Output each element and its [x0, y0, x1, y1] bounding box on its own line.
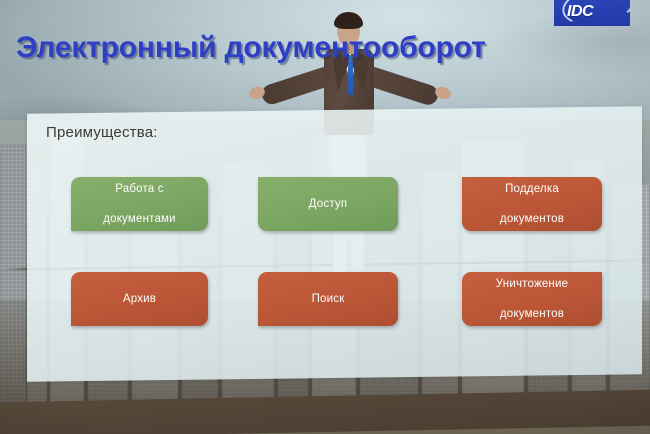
slide-title: Электронный документооборот	[16, 31, 486, 65]
box-poddelka-dokumentov[interactable]: Подделка документов	[462, 177, 602, 231]
box-label-line1: Доступ	[303, 197, 354, 212]
box-label-line1: Уничтожение	[490, 277, 574, 292]
box-poisk[interactable]: Поиск	[258, 272, 398, 326]
box-arhiv[interactable]: Архив	[71, 272, 208, 326]
box-label-line1: Поиск	[306, 292, 351, 307]
box-rabota-s-dokumentami[interactable]: Работа с документами	[71, 177, 208, 231]
box-label-line2: документов	[494, 212, 570, 227]
idc-logo-text: IDC	[567, 3, 593, 21]
section-label: Преимущества:	[46, 124, 158, 141]
box-label-line1: Подделка	[494, 182, 570, 197]
box-label-line1: Работа с	[97, 182, 182, 197]
content-panel: Преимущества: Работа с документами Досту…	[27, 106, 642, 382]
presentation-slide: Электронный документооборот Преимущества…	[0, 0, 650, 434]
box-label-line1: Архив	[117, 292, 162, 307]
walker-right-arm	[364, 65, 441, 107]
box-label-line2: документами	[97, 212, 182, 227]
box-dostup[interactable]: Доступ	[258, 177, 398, 231]
box-label-line2: документов	[490, 307, 574, 322]
idc-logo: IDC	[554, 0, 630, 26]
box-unichtozhenie-dokumentov[interactable]: Уничтожение документов	[462, 272, 602, 326]
walker-hair	[334, 12, 363, 29]
